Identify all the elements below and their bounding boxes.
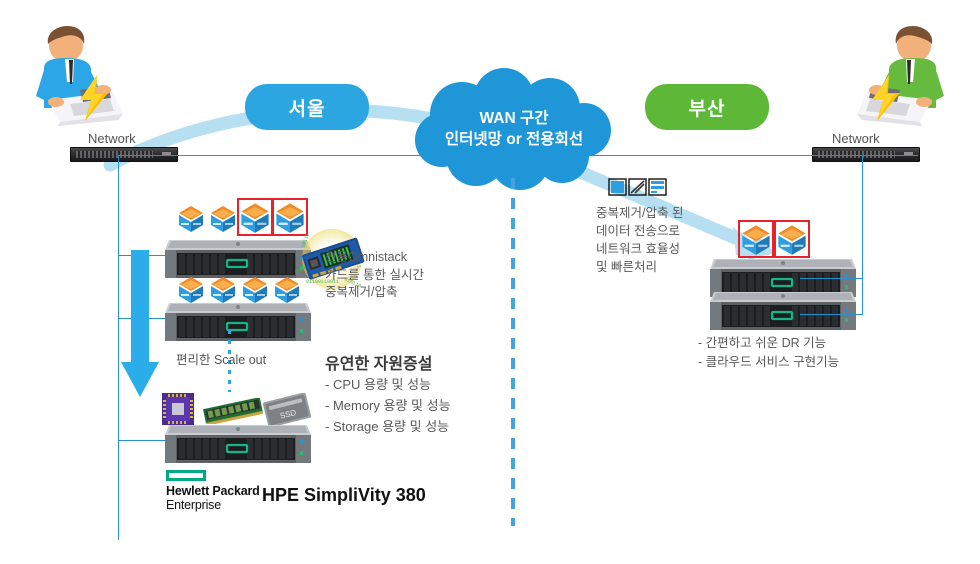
- scale-out-arrow: [120, 250, 160, 398]
- virtual-machine-icon: [740, 222, 772, 256]
- lightning-bolt-icon: [869, 75, 903, 121]
- rack-server-icon: [165, 299, 311, 343]
- dr-benefits-list: - 간편하고 쉬운 DR 기능 - 클라우드 서비스 구현기능: [698, 334, 839, 372]
- resource-expansion-title: 유연한 자원증설: [325, 350, 433, 374]
- network-label-left: Network: [88, 131, 136, 146]
- person-laptop-blue-icon: [18, 22, 128, 132]
- virtual-machine-icon-replicated: [239, 200, 271, 234]
- virtual-machine-icon: [209, 203, 237, 233]
- right-branch-line-1: [800, 278, 862, 279]
- virtual-machine-icon: [239, 200, 271, 234]
- virtual-machine-icon-replicated: [740, 222, 772, 256]
- dedupe-transfer-annotation: 중복제거/압축 된 데이터 전송으로 네트워크 효율성 및 빠른처리: [596, 204, 683, 276]
- cloud-line-2: 인터넷망 or 전용회선: [445, 131, 583, 148]
- location-pill-seoul[interactable]: 서울: [245, 84, 369, 130]
- resource-expansion-list: - CPU 용량 및 성능 - Memory 용량 및 성능 - Storage…: [325, 374, 451, 437]
- wan-cloud: WAN 구간인터넷망 or 전용회선: [404, 68, 624, 190]
- location-pill-busan-label: 부산: [689, 94, 726, 121]
- omnistack-annotation: 전용Omnistack 카드를 통한 실시간 중복제거/압축: [325, 249, 424, 302]
- hpe-logo-mark: [166, 470, 206, 481]
- lightning-bolt-icon: [77, 75, 111, 121]
- right-vertical-line: [862, 155, 863, 315]
- product-name-label: HPE SimpliVity 380: [262, 485, 426, 506]
- cloud-line-1: WAN 구간: [480, 110, 549, 127]
- scale-out-label: 편리한 Scale out: [176, 352, 266, 370]
- hpe-vendor-line-2: Enterprise: [166, 498, 221, 512]
- hpe-vendor-line-1: Hewlett Packard: [166, 484, 260, 498]
- virtual-machine-icon-replicated: [776, 222, 808, 256]
- data-transfer-icon: [608, 175, 668, 199]
- rack-server-icon: [710, 288, 856, 332]
- virtual-machine-icon: [177, 203, 205, 233]
- location-pill-seoul-label: 서울: [289, 94, 326, 121]
- site-divider: [511, 178, 515, 526]
- network-label-right: Network: [832, 131, 880, 146]
- left-vertical-line: [118, 155, 119, 540]
- right-branch-line-2: [800, 314, 862, 315]
- hpe-logo-wordmark: Hewlett PackardEnterprise: [166, 485, 260, 512]
- cloud-label: WAN 구간인터넷망 or 전용회선: [404, 108, 624, 150]
- location-pill-busan[interactable]: 부산: [645, 84, 769, 130]
- virtual-machine-icon: [776, 222, 808, 256]
- hpe-logo: Hewlett PackardEnterprise: [166, 470, 260, 512]
- rack-server-icon: [165, 421, 311, 465]
